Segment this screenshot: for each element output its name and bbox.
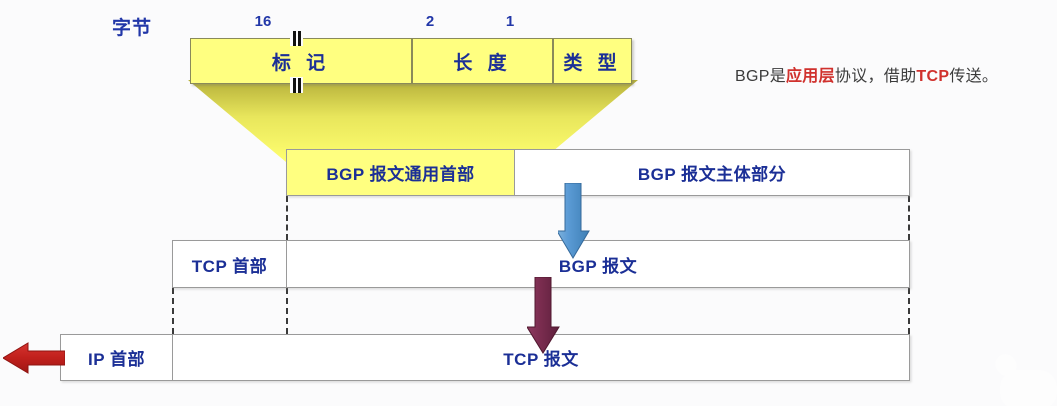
byte-unit-label: 字节	[112, 13, 152, 40]
bgp-common-header-cell: BGP 报文通用首部	[287, 150, 515, 195]
bgp-to-tcp-arrow	[558, 183, 594, 261]
ip-header-label: IP 首部	[88, 345, 145, 370]
tcp-header-label: TCP 首部	[192, 252, 267, 277]
note-suffix: 传送。	[949, 68, 998, 85]
diagram-canvas: 字节 16 2 1 标 记 长 度 类 型 BGP是应用层协议，借助TCP传送。	[0, 0, 1057, 406]
note-highlight-application-layer: 应用层	[786, 68, 835, 85]
break-mark-bottom-icon	[290, 77, 303, 93]
note-prefix: BGP是	[735, 68, 786, 85]
ip-datagram-row: IP 首部 TCP 报文	[60, 334, 910, 381]
note-text: BGP是应用层协议，借助TCP传送。	[735, 62, 998, 86]
header-field-type: 类 型	[553, 38, 632, 84]
byte-count-1: 1	[490, 13, 530, 30]
break-mark-top-icon	[290, 30, 303, 46]
tcp-header-cell: TCP 首部	[173, 241, 287, 287]
ip-header-cell: IP 首部	[61, 335, 173, 380]
header-field-marker-label: 标 记	[272, 48, 330, 75]
tcp-payload-cell: BGP 报文	[287, 241, 909, 287]
byte-count-16: 16	[243, 13, 283, 30]
bgp-common-header-label: BGP 报文通用首部	[326, 160, 474, 185]
dash-connector-right-upper	[908, 196, 910, 240]
dash-connector-left-lower	[286, 288, 288, 334]
tcp-to-ip-arrow	[527, 277, 565, 355]
ip-outbound-arrow	[3, 340, 65, 376]
bgp-message-row: BGP 报文通用首部 BGP 报文主体部分	[286, 149, 910, 196]
note-highlight-tcp: TCP	[916, 68, 949, 85]
bgp-body-label: BGP 报文主体部分	[638, 160, 786, 185]
header-field-length: 长 度	[412, 38, 553, 84]
header-field-type-label: 类 型	[563, 48, 621, 75]
note-middle: 协议，借助	[835, 68, 917, 85]
dash-connector-right-lower	[908, 288, 910, 334]
header-field-length-label: 长 度	[453, 48, 511, 75]
dash-connector-left-upper	[286, 196, 288, 240]
dash-connector-tcp-lower	[172, 288, 174, 334]
corner-watermark-logo	[990, 344, 1057, 406]
byte-count-2: 2	[410, 13, 450, 30]
